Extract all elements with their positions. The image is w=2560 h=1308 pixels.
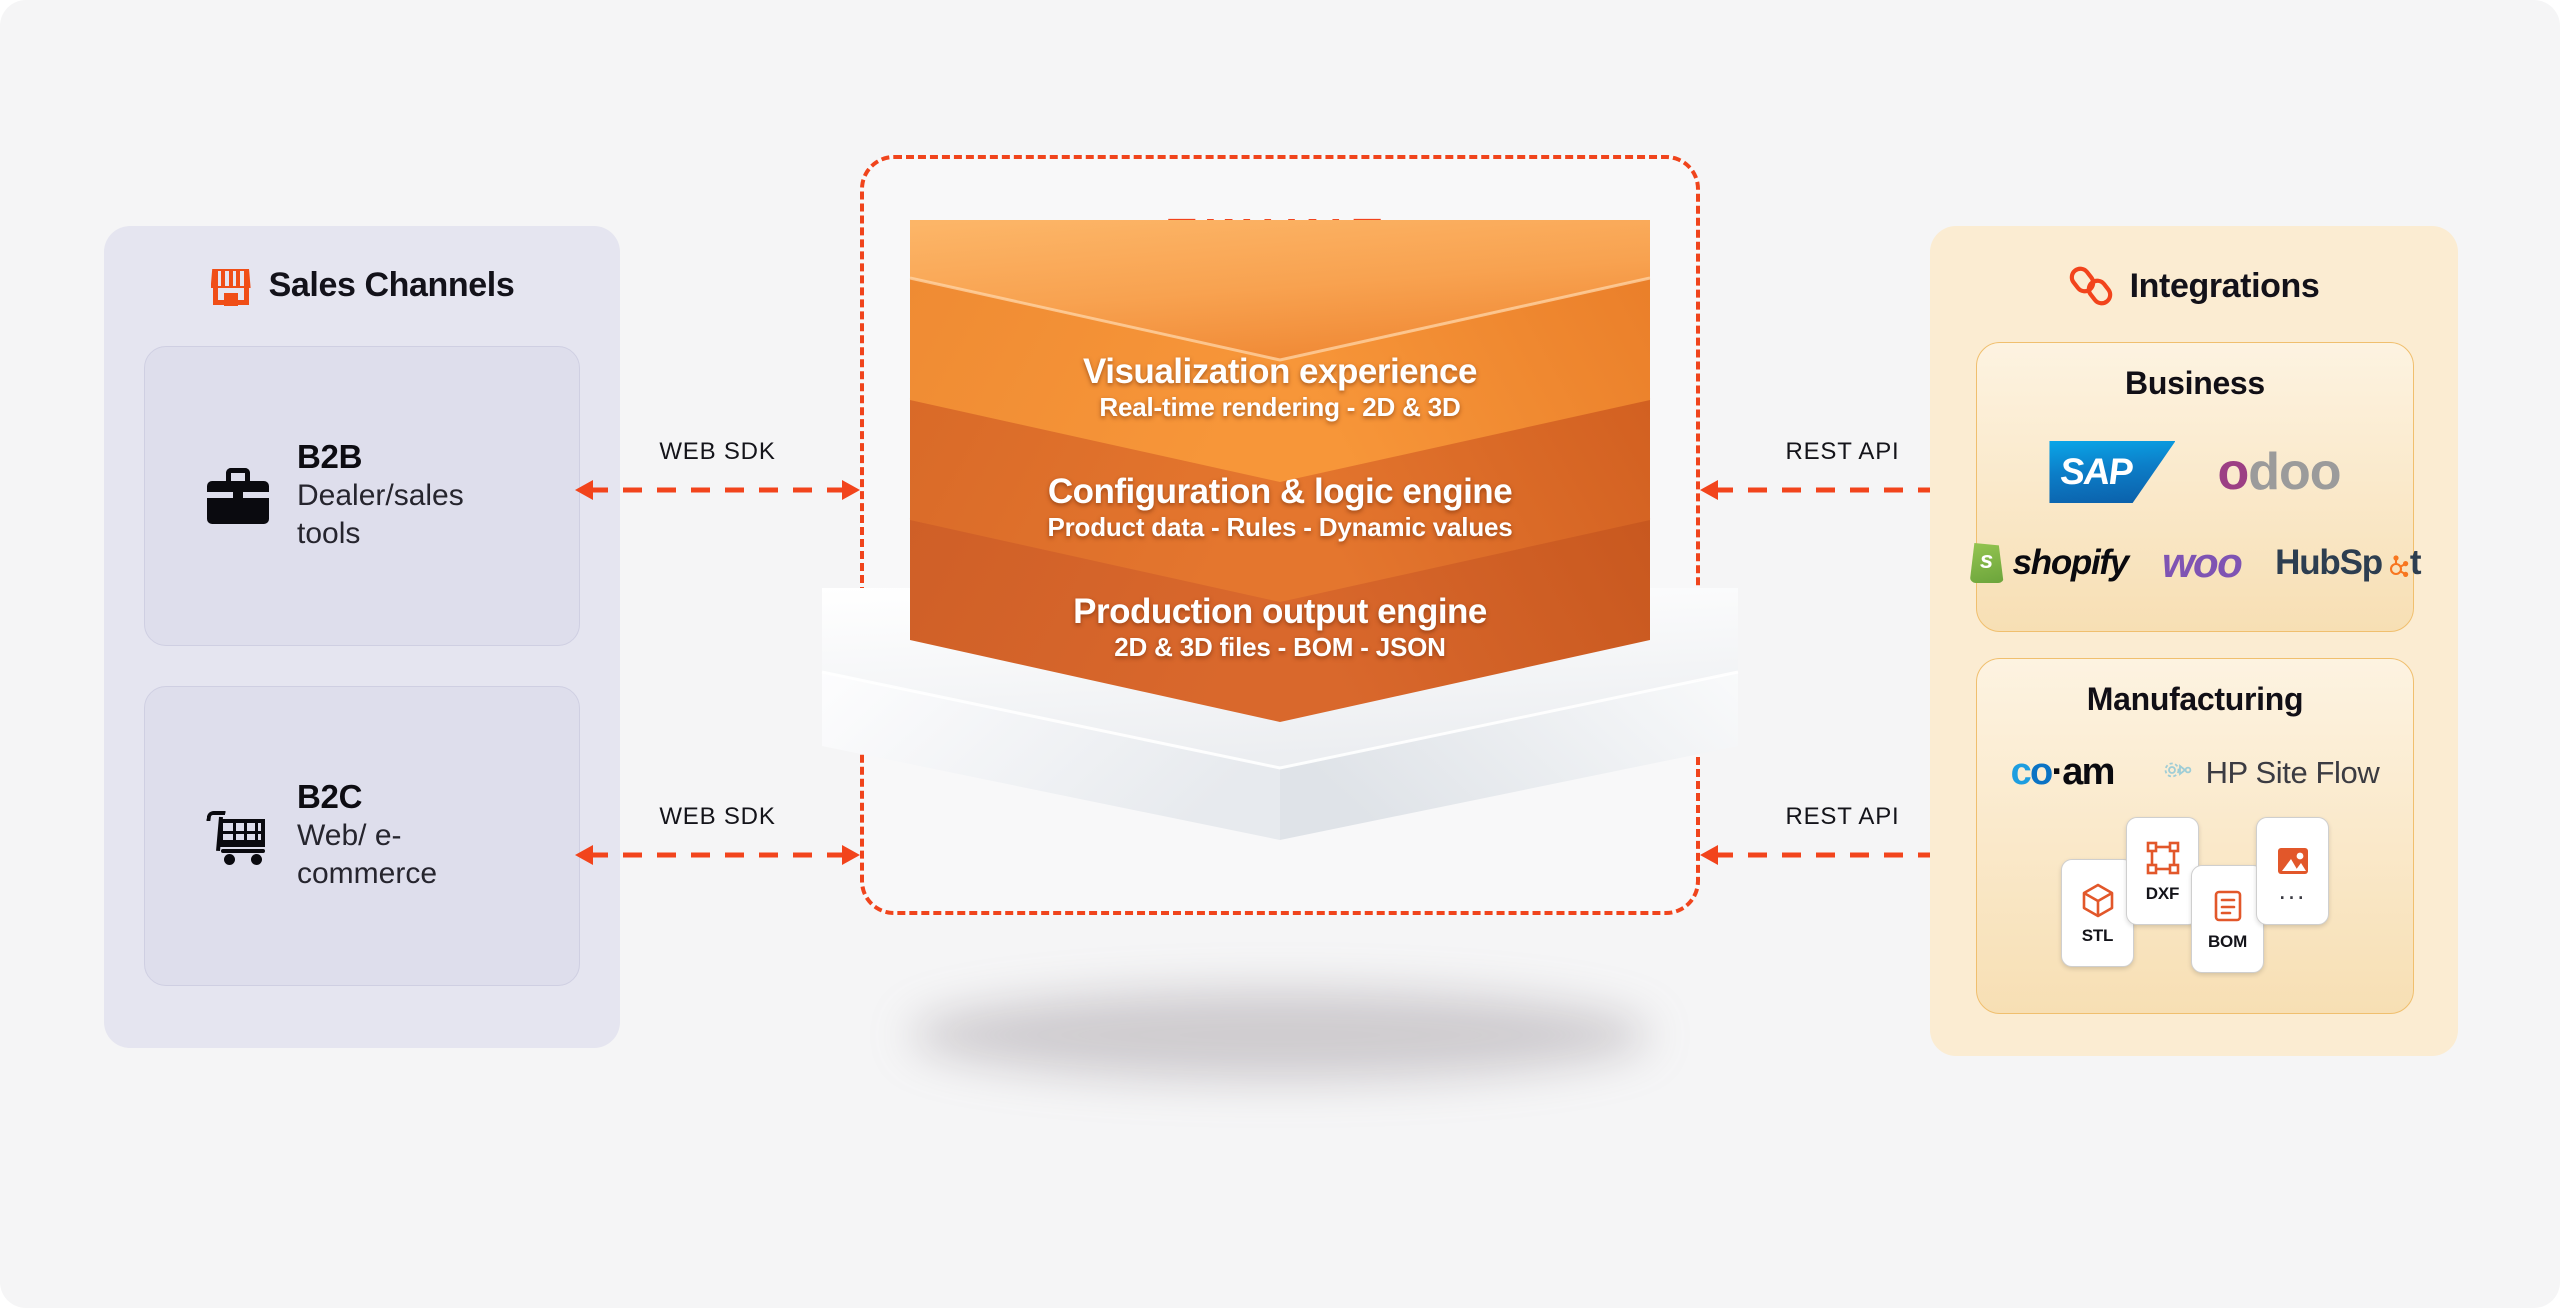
channel-card-b2b[interactable]: B2B Dealer/sales tools [144,346,580,646]
channel-card-b2c[interactable]: B2C Web/ e-commerce [144,686,580,986]
file-card-stl-label: STL [2082,926,2114,946]
storefront-icon [210,264,252,306]
b2c-subtitle: Web/ e-commerce [297,817,512,894]
integrations-header: Integrations [1930,264,2458,308]
business-logo-row-1: SAP odoo [1977,441,2413,503]
connector-label-web-sdk-b2b: WEB SDK [575,438,860,466]
hp-site-flow-logo: HP Site Flow [2160,755,2380,791]
manufacturing-title: Manufacturing [1977,681,2413,718]
output-file-cards: STL DXF [1977,827,2413,967]
bounding-box-icon [2144,839,2182,877]
twikit-layer-stack: Production output engine 2D & 3D files -… [760,300,1800,1130]
briefcase-icon [207,468,269,524]
connector-web-sdk-b2c: WEB SDK [575,845,860,865]
connector-web-sdk-b2b: WEB SDK [575,480,860,500]
file-card-bom[interactable]: BOM [2191,865,2264,973]
diagram-canvas: Sales Channels B2B Dealer/sales tools [0,0,2560,1308]
file-card-dxf[interactable]: DXF [2126,817,2199,925]
file-card-bom-label: BOM [2208,932,2247,952]
sales-channels-header: Sales Channels [104,264,620,306]
cube-icon [2079,881,2117,919]
shopify-logo: shopify [1970,543,2128,583]
file-card-more-label: ... [2279,884,2307,897]
b2b-subtitle: Dealer/sales tools [297,477,512,554]
sales-channels-title: Sales Channels [269,266,515,305]
business-logo-row-2: shopify woo HubSp [1977,539,2413,587]
sales-channels-panel: Sales Channels B2B Dealer/sales tools [104,226,620,1048]
hubspot-sprocket-icon [2383,550,2409,576]
integration-group-manufacturing: Manufacturing co·am [1976,658,2414,1014]
coam-logo: co·am [2011,751,2114,794]
document-icon [2209,887,2247,925]
integration-group-business: Business SAP odoo shopify woo HubSp [1976,342,2414,632]
woo-logo: woo [2162,539,2241,587]
hubspot-logo: HubSp [2275,543,2420,583]
odoo-logo: odoo [2217,446,2340,498]
file-card-stl[interactable]: STL [2061,859,2134,967]
connector-label-web-sdk-b2c: WEB SDK [575,803,860,831]
sap-logo: SAP [2049,441,2175,503]
shopify-bag-icon [1970,543,2004,583]
image-icon [2274,845,2312,877]
file-card-dxf-label: DXF [2146,884,2179,904]
business-title: Business [1977,365,2413,402]
integrations-title: Integrations [2130,267,2320,306]
hp-gear-icon [2160,755,2194,790]
b2b-title: B2B [297,438,512,477]
manufacturing-logo-row: co·am HP Site Flow [1977,751,2413,794]
chain-link-icon [2069,264,2113,308]
shopping-cart-icon [207,807,269,865]
file-card-more[interactable]: ... [2256,817,2329,925]
integrations-panel: Integrations Business SAP odoo shopify w… [1930,226,2458,1056]
b2c-title: B2C [297,778,512,817]
